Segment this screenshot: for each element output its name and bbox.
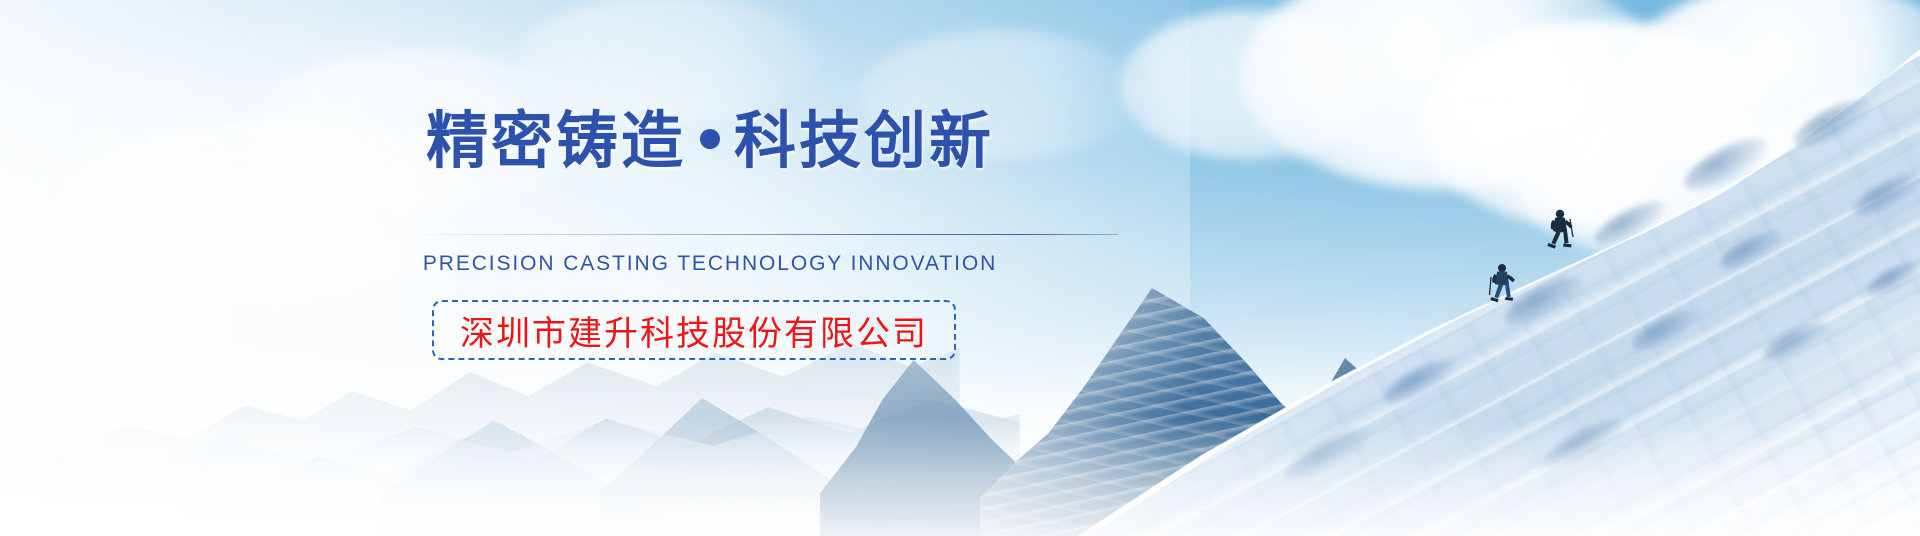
climber-icon — [1543, 208, 1577, 260]
banner-subtitle: PRECISION CASTING TECHNOLOGY INNOVATION — [330, 252, 1090, 276]
cloud-icon — [1120, 10, 1380, 160]
bullet-dot-icon — [700, 129, 720, 149]
company-name: 深圳市建升科技股份有限公司 — [460, 306, 928, 355]
headline-divider — [412, 234, 1118, 235]
banner-headline: 精密铸造科技创新 — [330, 108, 1090, 175]
headline-part-2: 科技创新 — [734, 104, 994, 177]
climber-icon — [1486, 262, 1518, 314]
headline-part-1: 精密铸造 — [426, 104, 686, 177]
company-name-box: 深圳市建升科技股份有限公司 — [432, 300, 956, 360]
hero-banner: 精密铸造科技创新 PRECISION CASTING TECHNOLOGY IN… — [0, 0, 1920, 536]
